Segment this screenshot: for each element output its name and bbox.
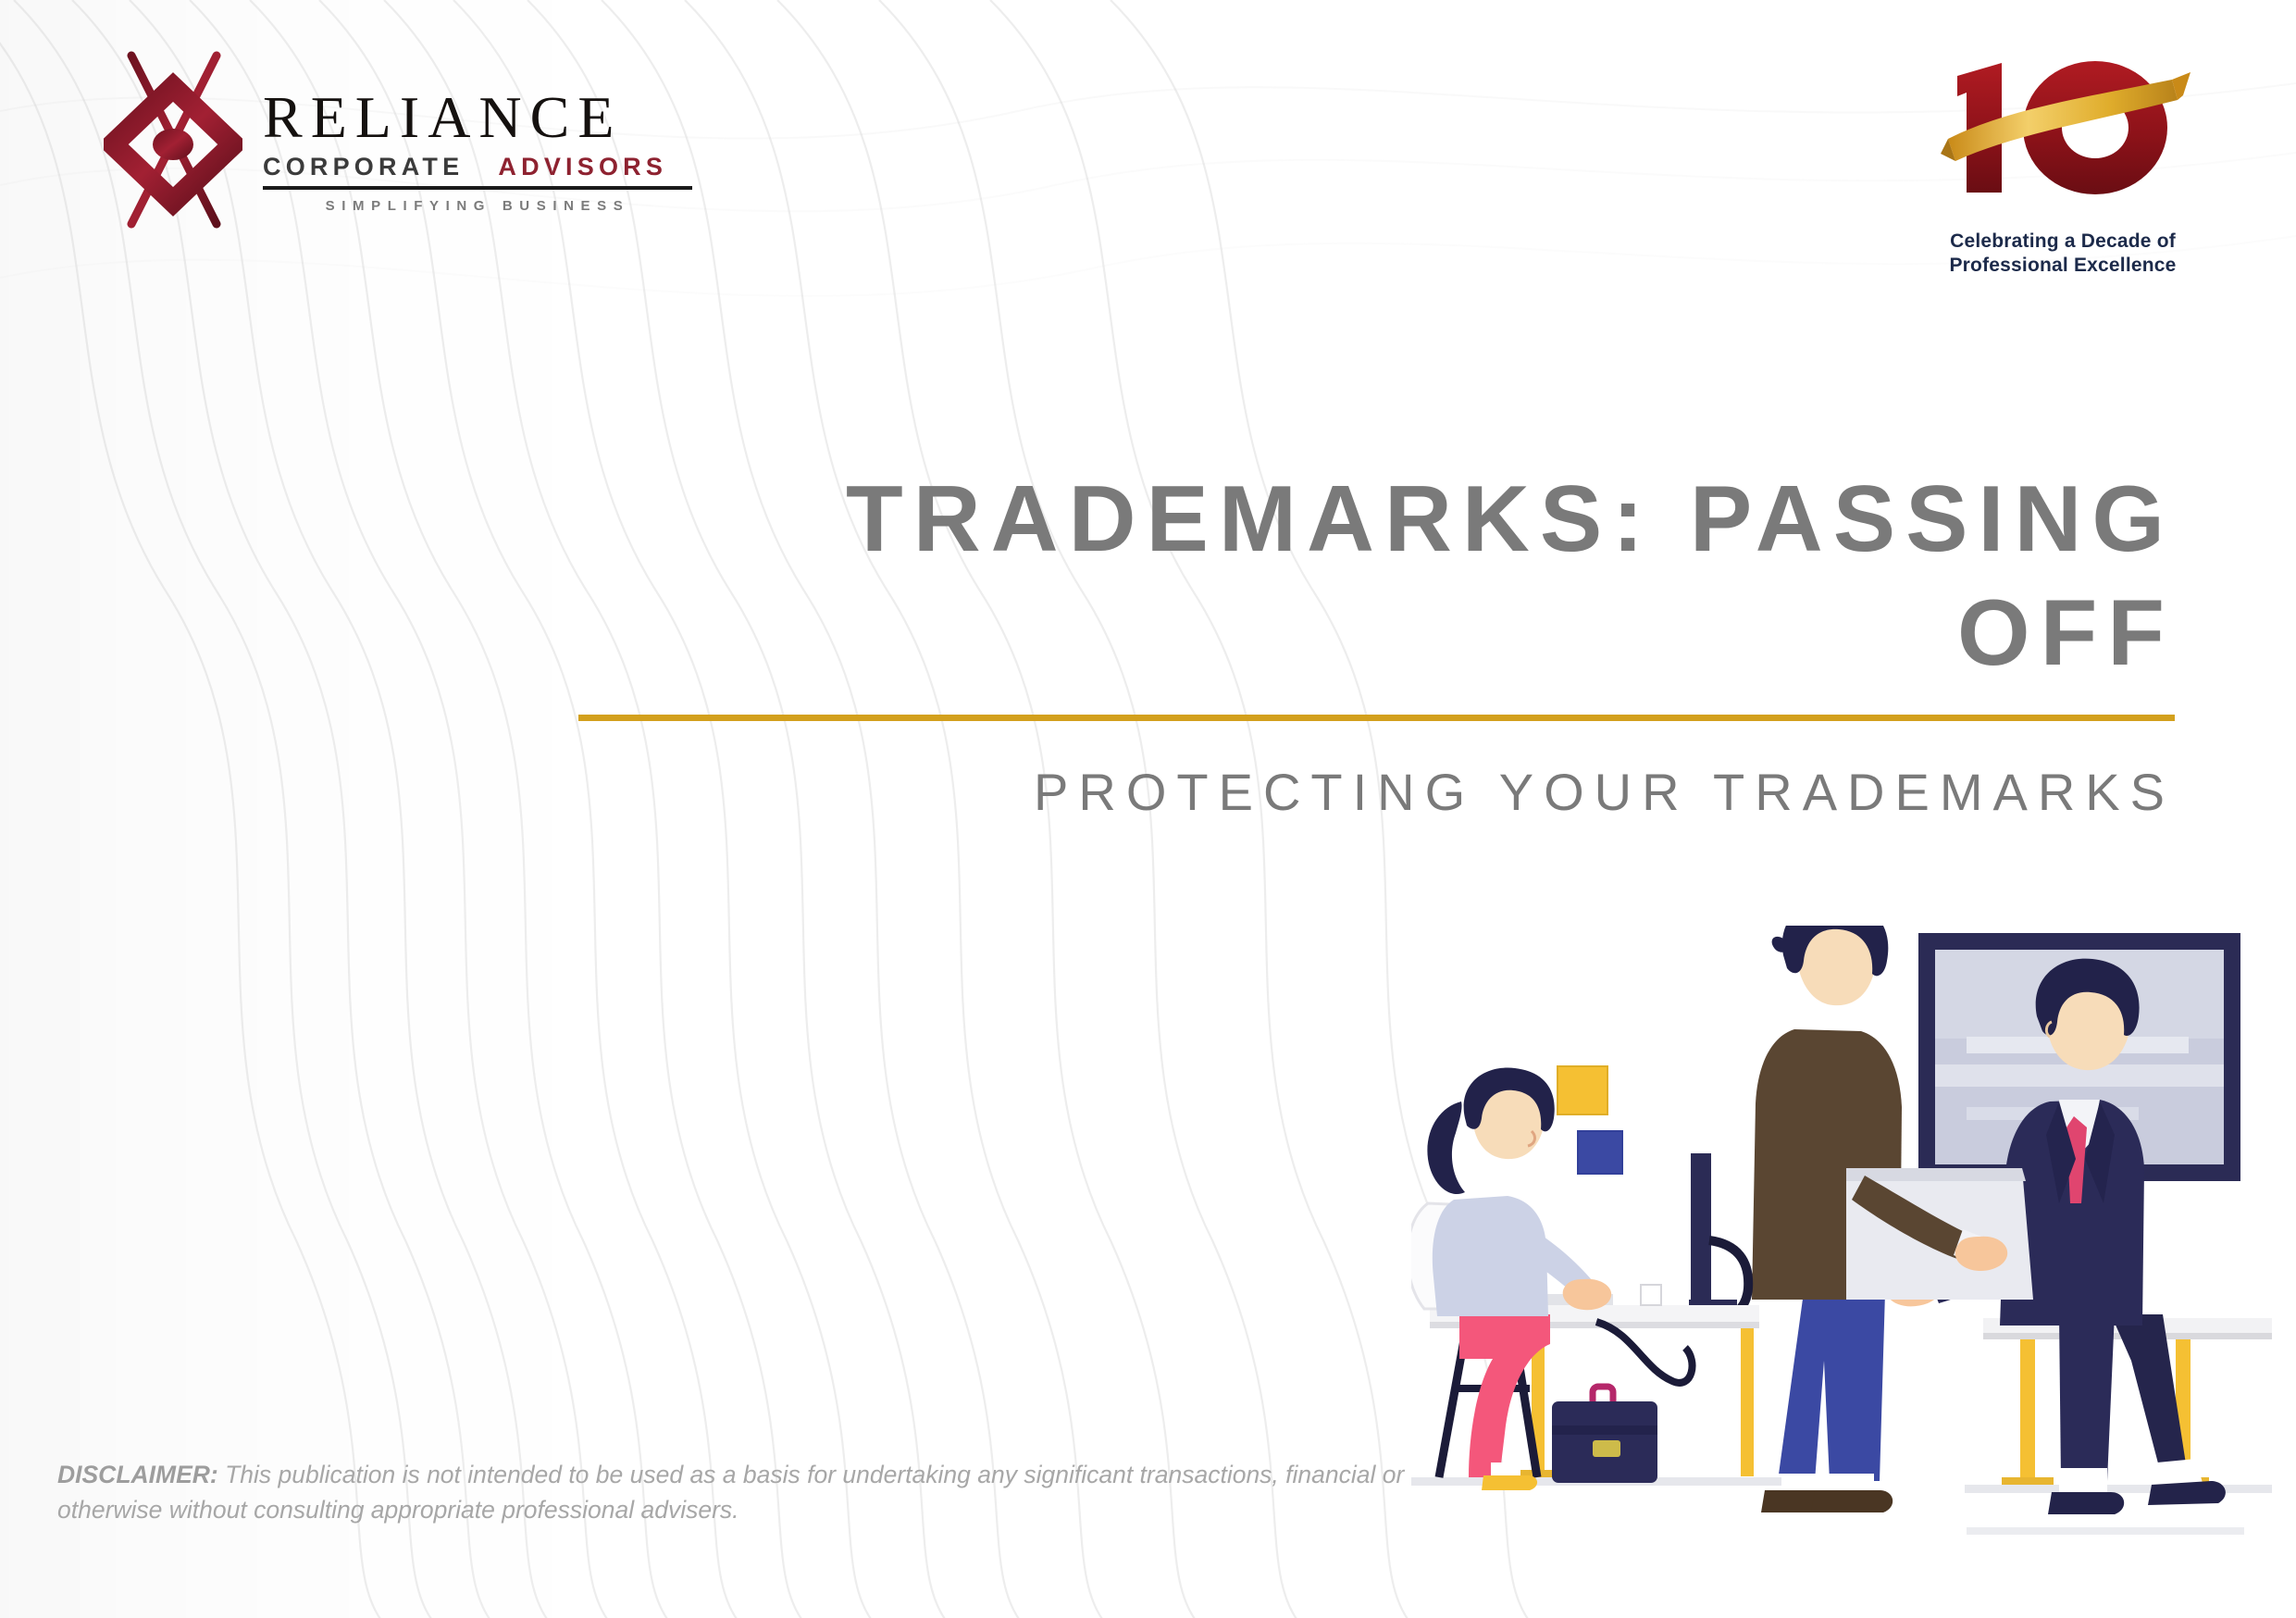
brand-divider	[263, 186, 692, 190]
slide-root: RELIANCE CORPORATE ADVISORS SIMPLIFYING …	[0, 0, 2296, 1618]
brand-name: RELIANCE	[263, 90, 692, 146]
briefcase	[1552, 1387, 1657, 1483]
office-handshake-presentation-illustration	[1411, 926, 2272, 1574]
page-subtitle: PROTECTING YOUR TRADEMARKS	[518, 764, 2175, 821]
title-gold-divider	[578, 715, 2175, 721]
anniversary-badge: Celebrating a Decade of Professional Exc…	[1924, 44, 2202, 277]
monitor	[1689, 1153, 1748, 1318]
disclaimer: DISCLAIMER: This publication is not inte…	[57, 1458, 1446, 1527]
disclaimer-label: DISCLAIMER:	[57, 1461, 218, 1488]
illustration-svg	[1411, 926, 2272, 1574]
title-block: TRADEMARKS: PASSING OFF PROTECTING YOUR …	[518, 463, 2175, 821]
brand-tagline: SIMPLIFYING BUSINESS	[263, 198, 692, 214]
brand-subname-corporate: CORPORATE	[263, 153, 464, 180]
brand-subname-advisors: ADVISORS	[498, 153, 667, 180]
floor-line	[1967, 1527, 2244, 1535]
sticky-note-yellow	[1558, 1066, 1607, 1114]
page-title-line-2: OFF	[518, 577, 2175, 691]
disclaimer-text: This publication is not intended to be u…	[57, 1461, 1404, 1524]
page-title-line-1: TRADEMARKS: PASSING	[518, 463, 2175, 577]
desk-right	[1965, 1318, 2272, 1493]
brand-logo: RELIANCE CORPORATE ADVISORS SIMPLIFYING …	[104, 48, 692, 243]
ten-year-ribbon-icon	[1924, 44, 2202, 230]
sticky-note-blue	[1578, 1131, 1622, 1174]
diamond-eye-mark-icon	[104, 48, 242, 243]
anniversary-line-1: Celebrating a Decade of	[1924, 230, 2202, 254]
anniversary-line-2: Professional Excellence	[1924, 254, 2202, 278]
brand-subname: CORPORATE ADVISORS	[263, 155, 692, 180]
